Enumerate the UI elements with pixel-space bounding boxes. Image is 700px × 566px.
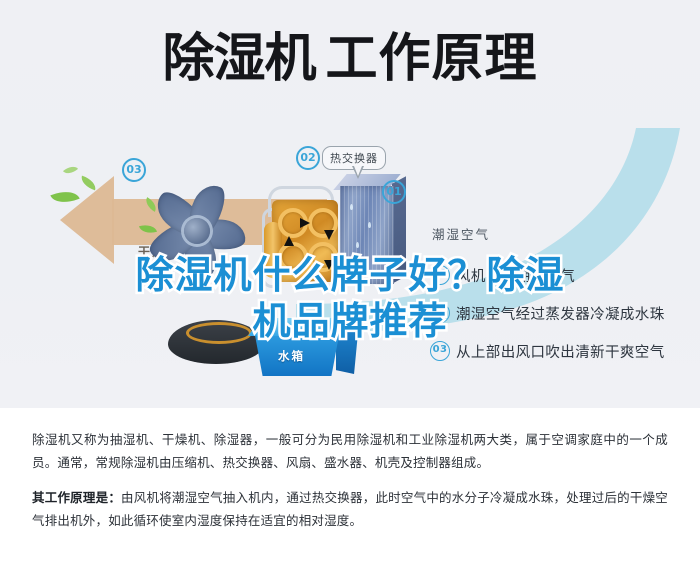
- article-body: 除湿机又称为抽湿机、干燥机、除湿器，一般可分为民用除湿机和工业除湿机两大类，属于…: [0, 408, 700, 566]
- badge-03: 03: [122, 158, 146, 182]
- paragraph-1: 除湿机又称为抽湿机、干燥机、除湿器，一般可分为民用除湿机和工业除湿机两大类，属于…: [32, 428, 668, 474]
- overlay-headline-line1: 除湿机什么牌子好？除湿: [135, 253, 564, 297]
- dry-air-arrow-icon: [60, 176, 114, 264]
- paragraph-2: 其工作原理是：由风机将潮湿空气抽入机内，通过热交换器，此时空气中的水分子冷凝成水…: [32, 486, 668, 532]
- humid-air-label: 潮湿空气: [432, 224, 490, 243]
- paragraph-2-lead: 其工作原理是：: [32, 490, 121, 505]
- page-title-part2: 工作原理: [326, 29, 538, 89]
- callout-pointer-icon: [352, 166, 364, 179]
- overlay-headline-line2: 机品牌推荐: [0, 298, 700, 344]
- page-title: 除湿机工作原理: [0, 28, 700, 90]
- paragraph-2-rest: 由风机将潮湿空气抽入机内，通过热交换器，此时空气中的水分子冷凝成水珠，处理过后的…: [32, 490, 668, 528]
- step-number: 03: [430, 341, 450, 361]
- hero-illustration: 除湿机工作原理 干燥空气 潮湿空气: [0, 0, 700, 408]
- badge-01: 01: [382, 180, 406, 204]
- page-root: 除湿机工作原理 干燥空气 潮湿空气: [0, 0, 700, 566]
- page-title-part1: 除湿机: [162, 29, 315, 89]
- water-tank-label: 水箱: [278, 348, 305, 364]
- badge-02: 02: [296, 146, 320, 170]
- overlay-headline: 除湿机什么牌子好？除湿 机品牌推荐: [0, 252, 700, 344]
